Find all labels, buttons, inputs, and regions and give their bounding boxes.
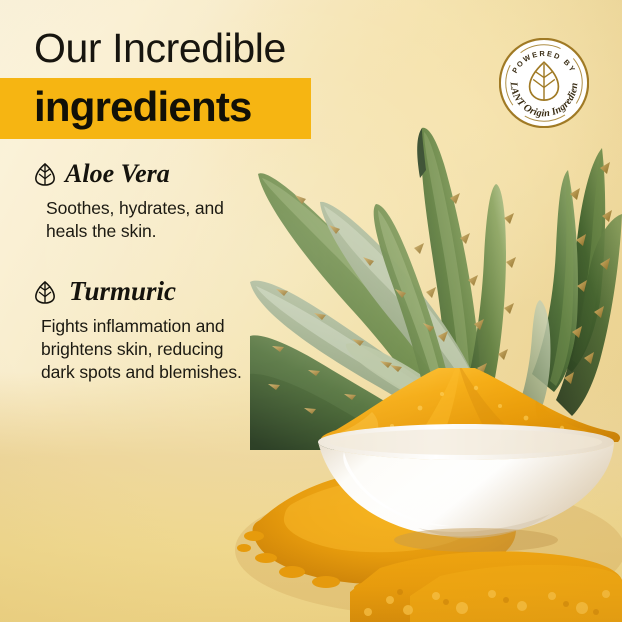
headline-line-2: ingredients [34,83,311,130]
headline-highlight-bar: ingredients [0,78,311,139]
ingredient-name: Aloe Vera [65,160,170,189]
plant-origin-badge: POWERED BY PLANT Origin Ingredients [499,38,589,128]
list-item: Aloe Vera Soothes, hydrates, and heals t… [34,160,284,243]
ingredients-promo-image: Our Incredible ingredients Aloe Vera Soo… [0,0,622,622]
ingredient-name: Turmuric [69,277,176,307]
ingredient-description: Soothes, hydrates, and heals the skin. [46,197,261,244]
ingredients-list: Aloe Vera Soothes, hydrates, and heals t… [34,160,284,403]
leaf-icon [34,162,56,186]
background-floor [0,372,622,622]
ingredient-heading: Aloe Vera [34,160,284,189]
ingredient-heading: Turmuric [34,277,284,307]
leaf-icon [34,280,56,304]
list-item: Turmuric Fights inflammation and brighte… [34,277,284,384]
headline-line-1: Our Incredible [0,24,360,72]
headline-block: Our Incredible ingredients [0,24,360,139]
ingredient-description: Fights inflammation and brightens skin, … [41,315,261,385]
